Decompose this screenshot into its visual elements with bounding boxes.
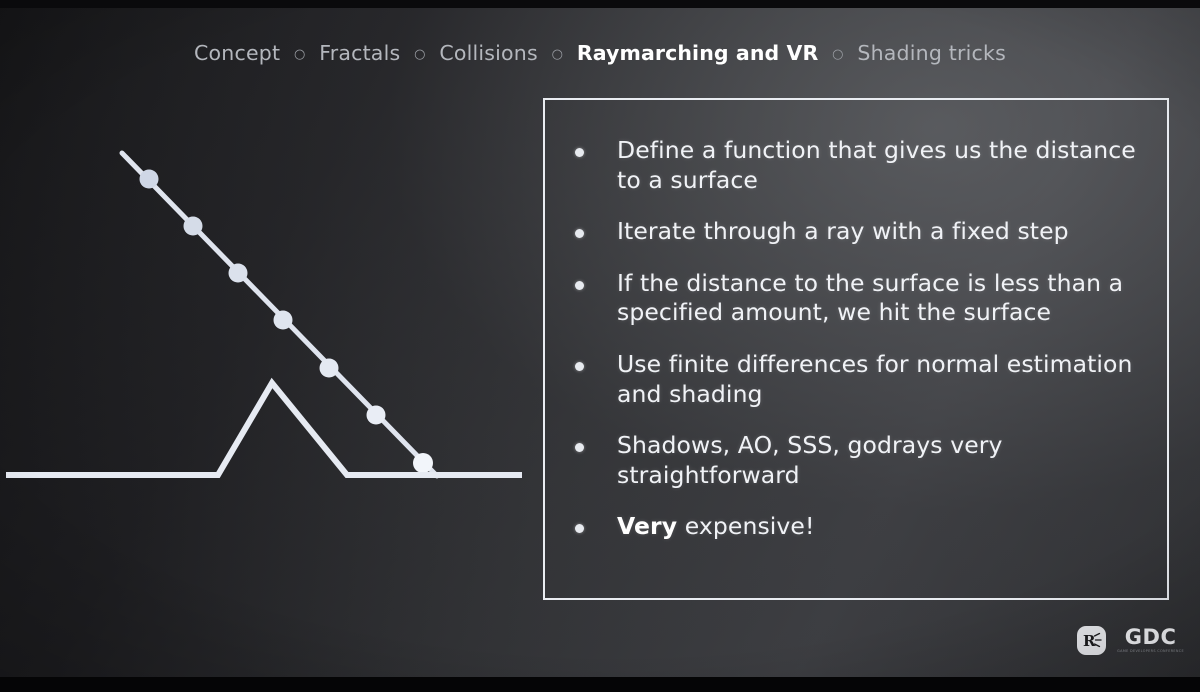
gdc-wordmark: GDC <box>1125 627 1177 648</box>
bullet-text: If the distance to the surface is less t… <box>617 269 1145 328</box>
bullet-text: Shadows, AO, SSS, godrays very straightf… <box>617 431 1145 490</box>
bullet-dot-icon <box>575 148 584 157</box>
ray-step-dot <box>274 311 293 330</box>
bullet-dot-icon <box>575 524 584 533</box>
list-item: Define a function that gives us the dist… <box>575 136 1145 195</box>
gdc-subtitle: GAME DEVELOPERS CONFERENCE <box>1117 650 1184 653</box>
letterbox-bottom <box>0 677 1200 692</box>
bullet-dot-icon <box>575 362 584 371</box>
list-item: Iterate through a ray with a fixed step <box>575 217 1145 247</box>
breadcrumb-separator-icon: ○ <box>552 47 564 62</box>
ray-step-dot-hit <box>413 453 433 473</box>
bullet-text: Iterate through a ray with a fixed step <box>617 217 1069 247</box>
terrain-surface-path <box>6 383 522 475</box>
breadcrumb-item-raymarching-and-vr[interactable]: Raymarching and VR <box>577 41 819 65</box>
svg-text:R: R <box>1083 632 1096 650</box>
list-item: Shadows, AO, SSS, godrays very straightf… <box>575 431 1145 490</box>
bullet-list-panel: Define a function that gives us the dist… <box>543 98 1169 600</box>
ray-step-dot <box>140 170 159 189</box>
bullet-dot-icon <box>575 281 584 290</box>
bullet-text-emphasis: Very expensive! <box>617 512 815 542</box>
ray-step-dot <box>320 359 339 378</box>
ray-step-dot <box>229 264 248 283</box>
bullet-dot-icon <box>575 443 584 452</box>
list-item: Very expensive! <box>575 512 1145 542</box>
raymarching-step-diagram <box>0 8 545 677</box>
list-item: Use finite differences for normal estima… <box>575 350 1145 409</box>
breadcrumb-separator-icon: ○ <box>832 47 844 62</box>
bullet-text: Define a function that gives us the dist… <box>617 136 1145 195</box>
gdc-logo: GDC GAME DEVELOPERS CONFERENCE <box>1117 627 1184 653</box>
bullet-text: Use finite differences for normal estima… <box>617 350 1145 409</box>
rendering-badge-logo-icon: R <box>1077 626 1106 655</box>
bullet-bold-prefix: Very <box>617 512 677 540</box>
breadcrumb-item-shading-tricks[interactable]: Shading tricks <box>857 41 1006 65</box>
bullet-dot-icon <box>575 229 584 238</box>
ray-step-dot <box>367 406 386 425</box>
letterbox-top <box>0 0 1200 8</box>
logo-area: R GDC GAME DEVELOPERS CONFERENCE <box>1077 626 1184 655</box>
list-item: If the distance to the surface is less t… <box>575 269 1145 328</box>
projected-slide-photo: Concept ○ Fractals ○ Collisions ○ Raymar… <box>0 0 1200 692</box>
ray-step-dot <box>184 217 203 236</box>
bullet-text-rest: expensive! <box>677 512 814 540</box>
slide-canvas: Concept ○ Fractals ○ Collisions ○ Raymar… <box>0 8 1200 677</box>
